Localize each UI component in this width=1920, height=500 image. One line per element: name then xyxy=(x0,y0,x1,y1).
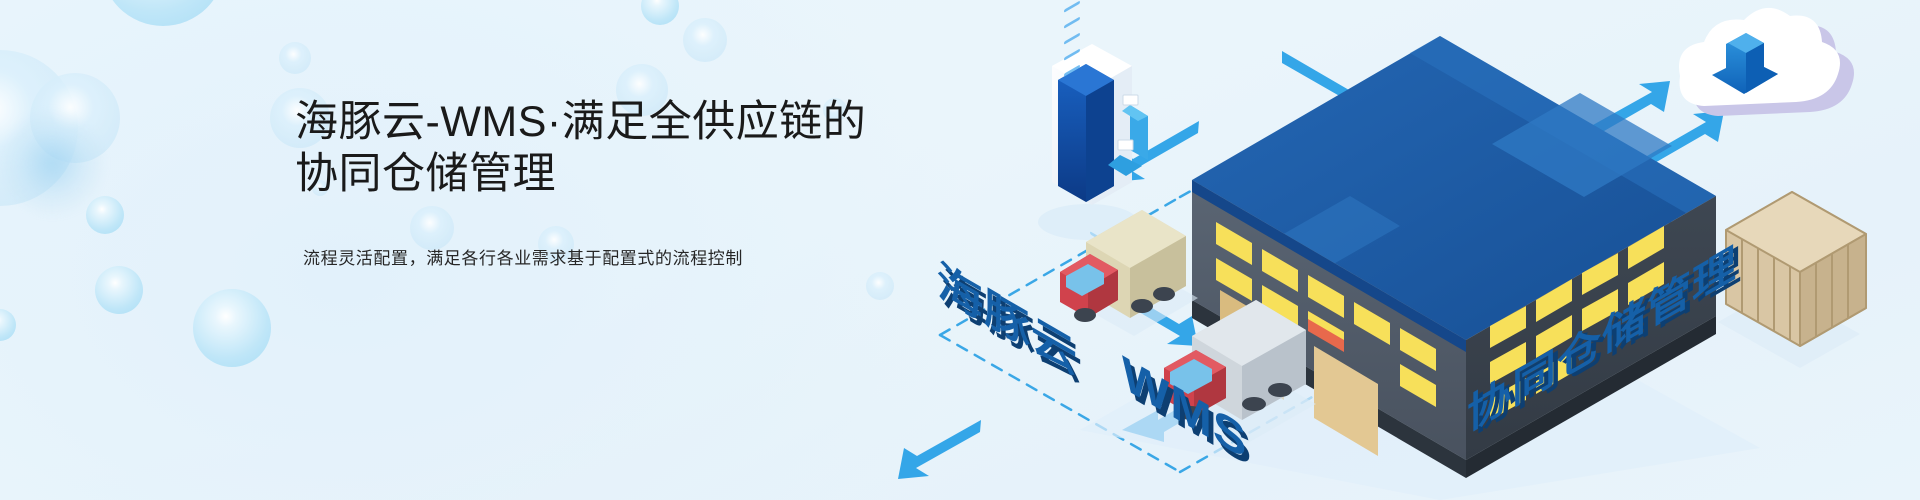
decor-bubble xyxy=(0,309,16,341)
decor-bubble xyxy=(641,0,679,25)
decor-bubble xyxy=(683,18,727,62)
warehouse-illustration: 海豚云 海豚云 WMS WMS 协同仓储管理 协同仓储管理 xyxy=(880,0,1920,500)
cloud-icon xyxy=(1679,8,1854,116)
decor-bubble xyxy=(193,289,271,367)
decor-bubble xyxy=(0,111,104,215)
banner-copy: 海豚云-WMS·满足全供应链的 协同仓储管理 流程灵活配置，满足各行各业需求基于… xyxy=(295,96,935,272)
hero-banner: 海豚云-WMS·满足全供应链的 协同仓储管理 流程灵活配置，满足各行各业需求基于… xyxy=(0,0,1920,500)
decor-bubble xyxy=(86,196,124,234)
decor-bubble xyxy=(101,0,225,26)
banner-subtitle: 流程灵活配置，满足各行各业需求基于配置式的流程控制 xyxy=(303,245,935,272)
decor-bubble xyxy=(30,73,120,163)
decor-bubble xyxy=(95,266,143,314)
page-title: 海豚云-WMS·满足全供应链的 协同仓储管理 xyxy=(295,96,935,201)
decor-bubble xyxy=(0,50,78,206)
decor-bubble xyxy=(279,42,311,74)
